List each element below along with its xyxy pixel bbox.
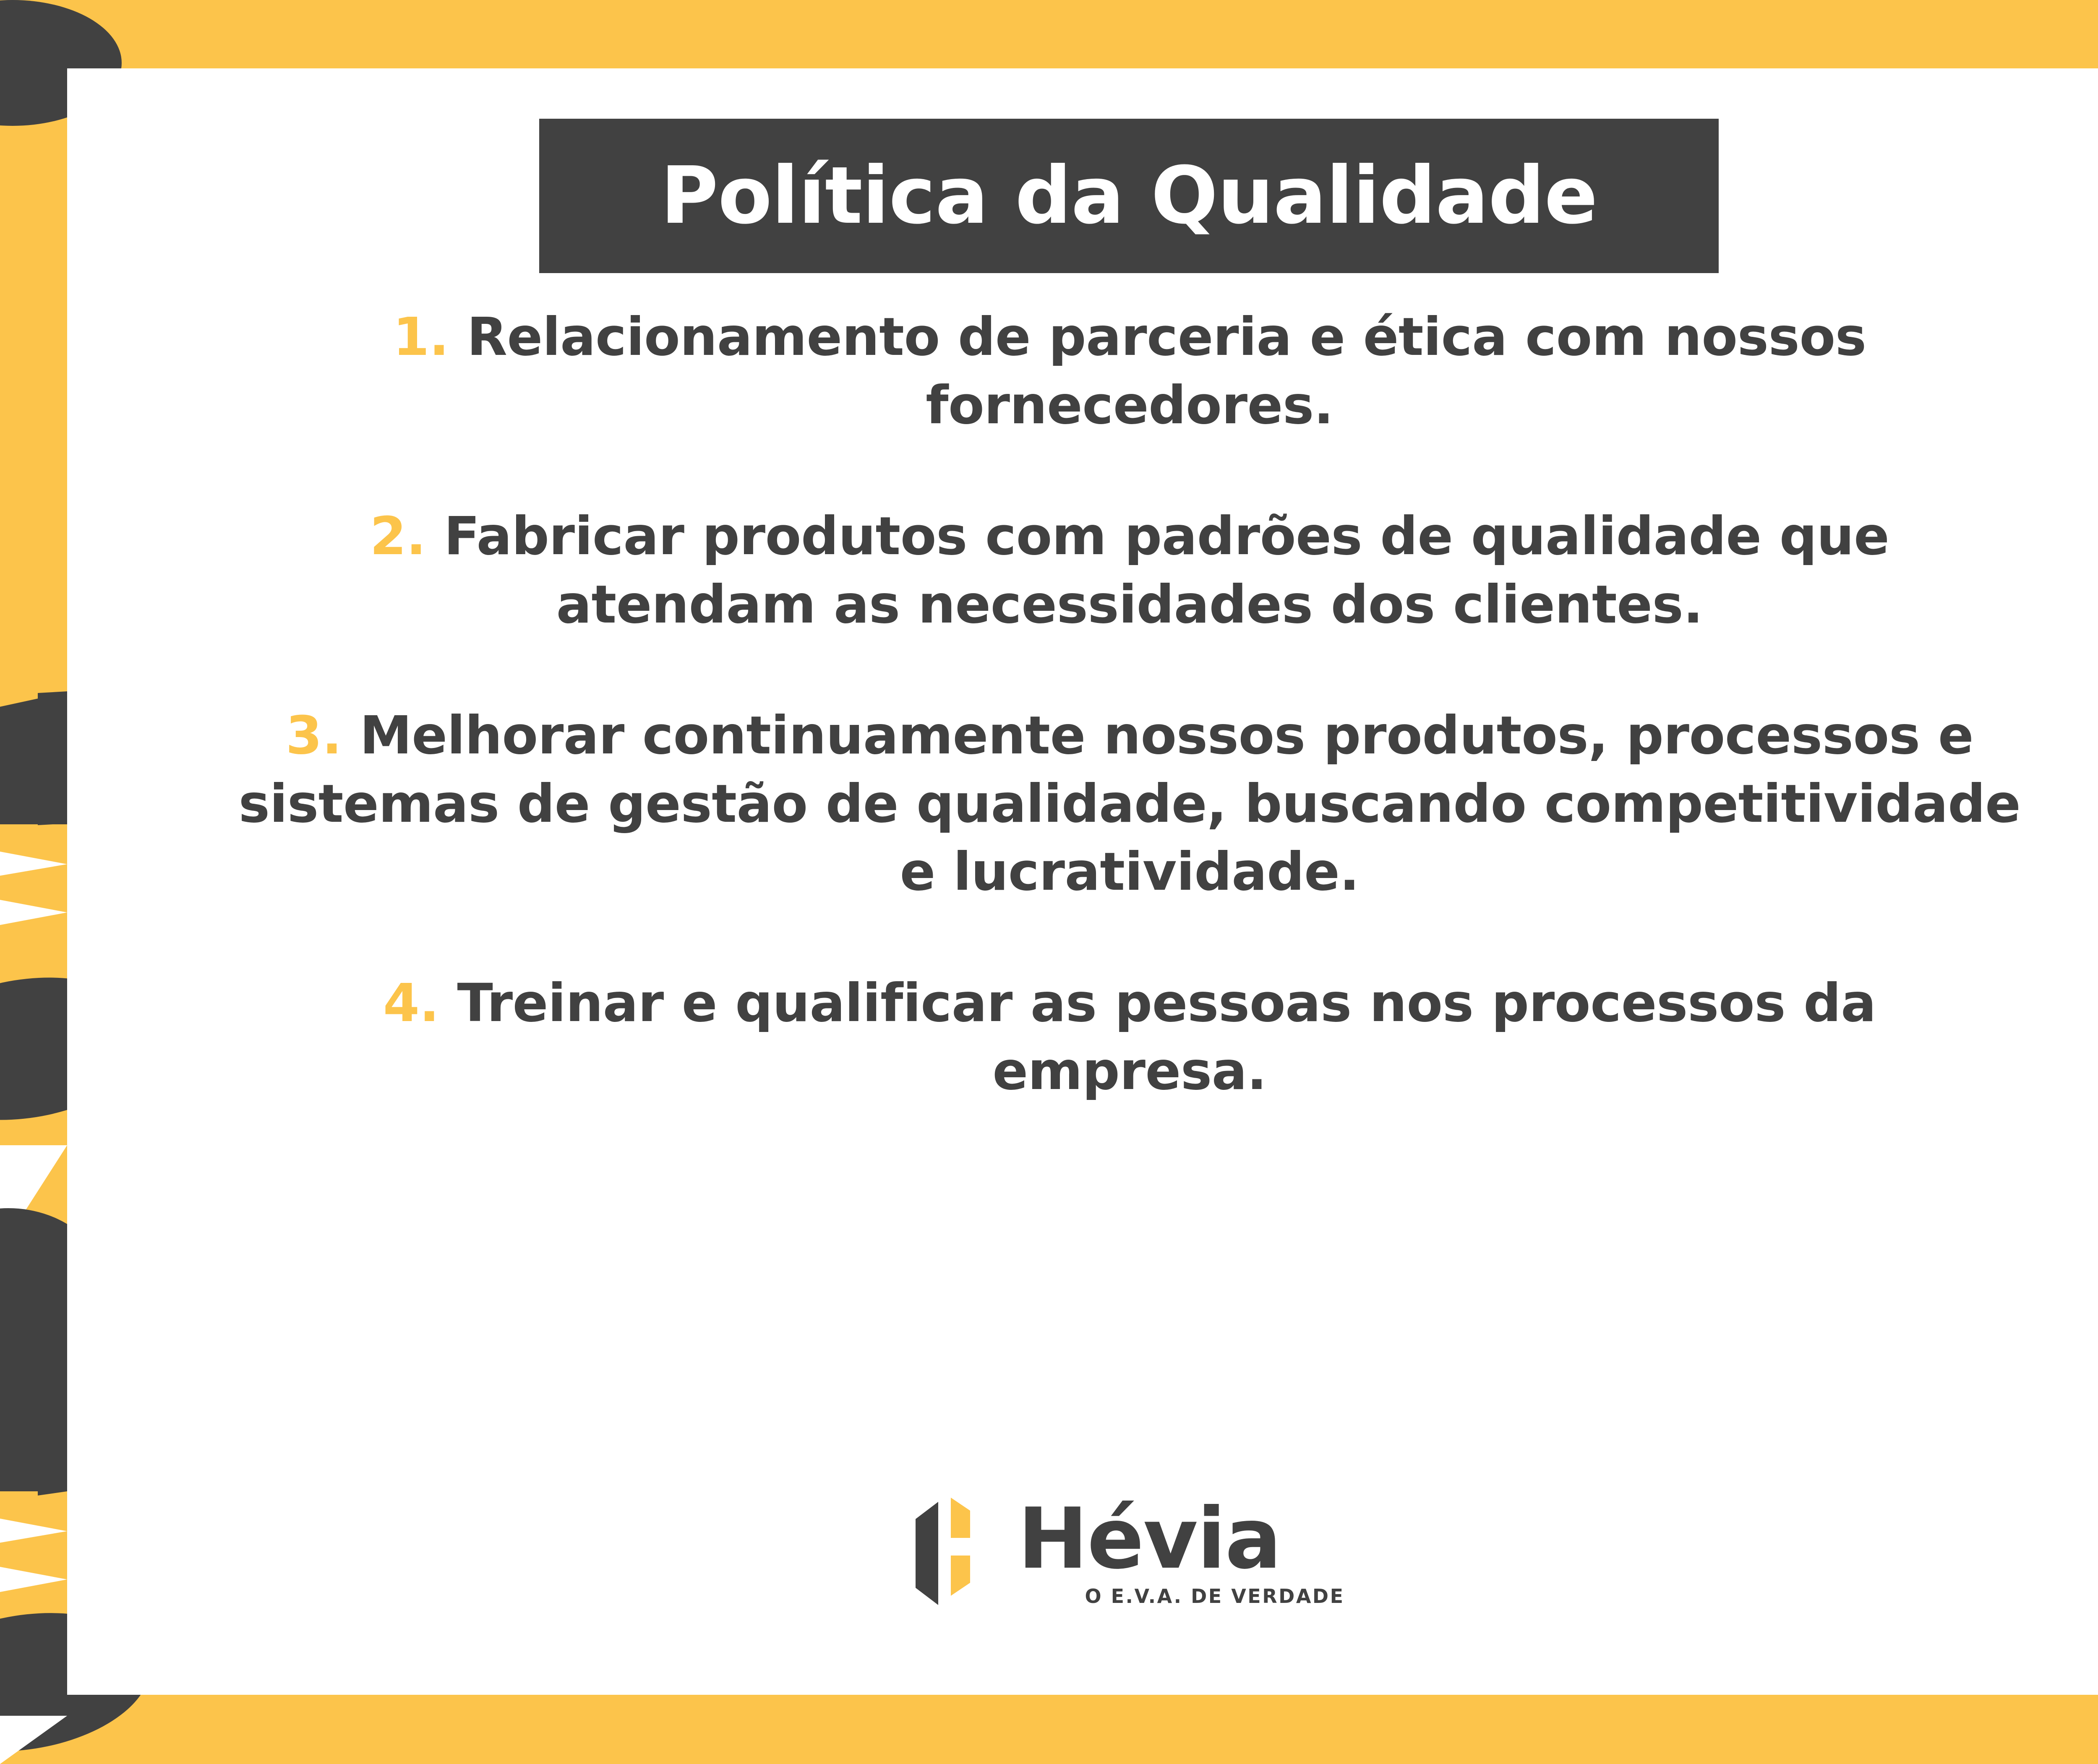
- logo-tagline: O E.V.A. DE VERDADE: [1085, 1585, 1344, 1608]
- policy-item-1: 1. Relacionamento de parceria e ética co…: [117, 303, 2098, 440]
- policy-number-3: 3.: [286, 705, 360, 766]
- policy-number-4: 4.: [383, 973, 457, 1034]
- poster-root: Política da Qualidade 1. Relacionamento …: [0, 0, 2098, 1764]
- policy-item-4: 4. Treinar e qualificar as pessoas nos p…: [117, 969, 2098, 1106]
- hevia-logo-mark: [914, 1497, 998, 1610]
- company-logo: Hévia O E.V.A. DE VERDADE: [67, 1497, 2098, 1610]
- policy-text-1: Relacionamento de parceria e ética com n…: [467, 307, 1866, 436]
- policy-item-3: 3. Melhorar continuamente nossos produto…: [117, 702, 2098, 907]
- logo-text-block: Hévia O E.V.A. DE VERDADE: [1018, 1499, 1344, 1608]
- policy-text-3: Melhorar continuamente nossos produtos, …: [239, 705, 2021, 902]
- policy-text-4: Treinar e qualificar as pessoas nos proc…: [457, 973, 1876, 1102]
- policy-text-2: Fabricar produtos com padrões de qualida…: [444, 506, 1889, 635]
- policy-item-2: 2. Fabricar produtos com padrões de qual…: [117, 503, 2098, 639]
- policy-number-1: 1.: [393, 307, 467, 367]
- policy-number-2: 2.: [370, 506, 444, 567]
- policy-list: 1. Relacionamento de parceria e ética co…: [117, 303, 2098, 1106]
- page-title: Política da Qualidade: [660, 156, 1597, 235]
- title-banner: Política da Qualidade: [539, 119, 1719, 273]
- logo-wordmark: Hévia: [1018, 1499, 1281, 1579]
- content-card: Política da Qualidade 1. Relacionamento …: [67, 68, 2098, 1695]
